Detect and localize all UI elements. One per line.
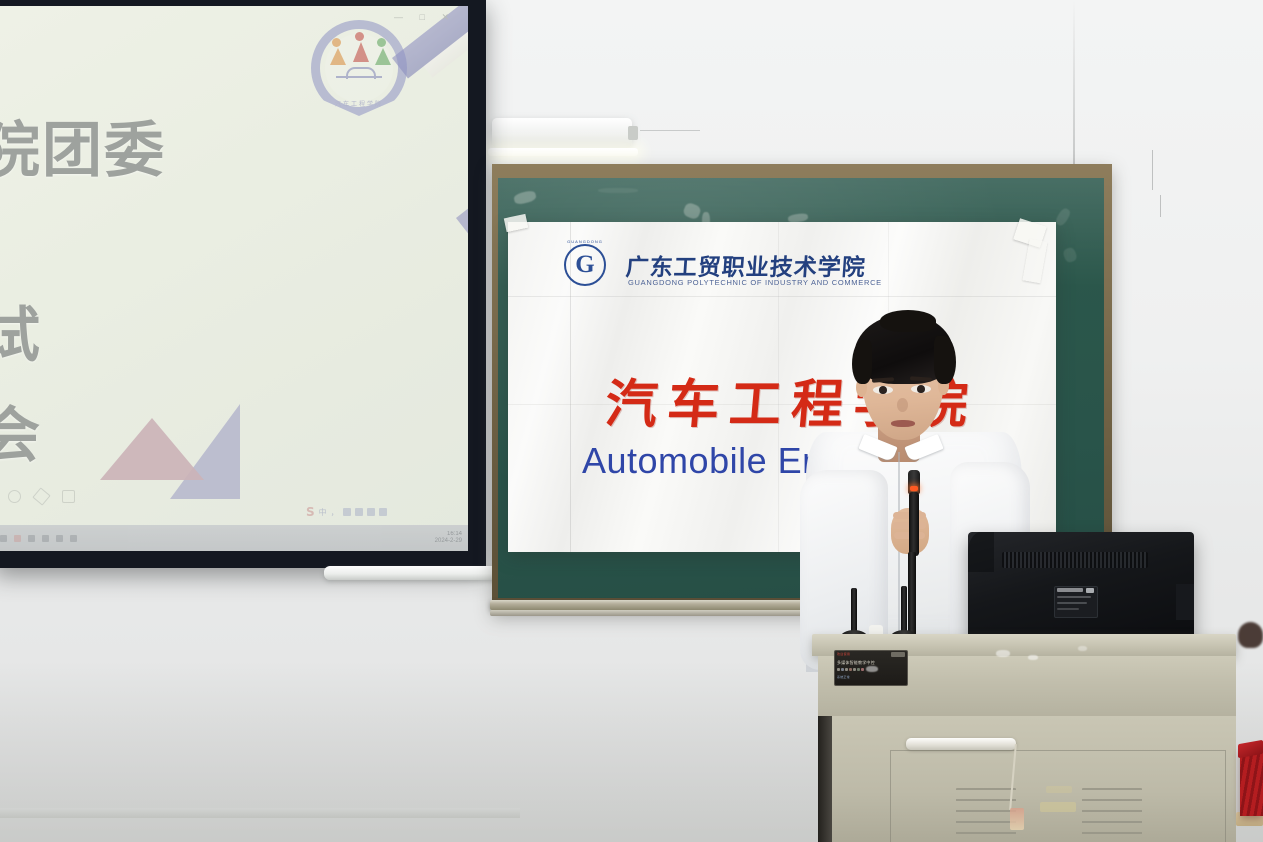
windows-taskbar[interactable]: 16:14 2024-2-29 — [0, 525, 468, 551]
monitor-label-line — [1057, 596, 1091, 598]
monitor-badge — [1086, 588, 1094, 593]
window-controls[interactable]: — □ ✕ — [394, 12, 456, 23]
monitor-label-line — [1057, 602, 1087, 604]
panel-button-visualizer[interactable] — [845, 668, 848, 671]
monitor-label — [1057, 588, 1083, 592]
panel-display — [891, 652, 905, 657]
podium-vent-left — [956, 788, 1016, 838]
person-mouth — [891, 420, 915, 427]
dark-object — [1238, 622, 1263, 648]
clock-time: 16:14 — [435, 531, 462, 538]
chalk-mark — [598, 188, 638, 193]
wall-baseboard — [0, 808, 520, 818]
ime-toolbox-icon[interactable] — [367, 508, 375, 516]
emblem-car-icon — [336, 67, 382, 85]
school-name-cn: 广东工贸职业技术学院 — [625, 248, 867, 282]
pen-tool-icon[interactable] — [32, 487, 50, 505]
panel-button-dvd[interactable] — [849, 668, 852, 671]
panel-button-projector[interactable] — [853, 668, 856, 671]
projection-screen-surface: 汽车工程学院 — □ ✕ 院团委 Ⅰ 试 会 S 中 ， — [0, 6, 468, 551]
clock-date: 2024-2-29 — [435, 538, 462, 545]
ime-mode-label[interactable]: 中 — [319, 507, 327, 518]
sogou-ime-bar[interactable]: S 中 ， — [306, 505, 387, 519]
podium-scuff — [1028, 655, 1038, 660]
school-logo-letter: G — [575, 251, 594, 279]
classroom-scene-photo: 汽车工程学院 — □ ✕ 院团委 Ⅰ 试 会 S 中 ， — [0, 0, 1263, 842]
emblem-figure-red — [353, 32, 366, 62]
podium-tape-mark — [1040, 802, 1076, 812]
slide-line-4: 会 — [0, 406, 42, 466]
podium-cabinet-door[interactable] — [890, 750, 1226, 842]
menu-tool-icon[interactable] — [62, 490, 75, 503]
taskbar-sogou-icon[interactable] — [14, 535, 21, 542]
ime-punct-icon[interactable]: ， — [331, 507, 339, 518]
taskbar-app-icon[interactable] — [28, 535, 35, 542]
wall-crack — [1152, 150, 1153, 190]
podium-handle-rail[interactable] — [906, 738, 1016, 750]
podium-scuff — [1078, 646, 1087, 651]
gooseneck-microphone-2[interactable] — [901, 586, 907, 636]
lamp-end-cap — [628, 126, 638, 140]
monitor-port-bay — [1176, 584, 1194, 620]
school-name-en: GUANGDONG POLYTECHNIC OF INDUSTRY AND CO… — [628, 278, 882, 287]
emblem-figure-orange — [330, 38, 343, 65]
ime-menu-icon[interactable] — [379, 508, 387, 516]
podium-side-edge — [818, 716, 832, 842]
person-eye-right — [917, 385, 925, 393]
fluorescent-lamp-tube — [488, 148, 638, 156]
hair-sideburn-left — [852, 340, 872, 384]
handheld-microphone-body[interactable] — [909, 492, 919, 556]
podium-vent-right — [1082, 788, 1142, 838]
presenter-toolbar[interactable] — [8, 490, 75, 503]
panel-status-label: 系统正常 — [837, 675, 850, 679]
fluorescent-lamp-housing — [492, 118, 632, 148]
monitor-label-line — [1057, 608, 1079, 610]
lcd-monitor — [968, 532, 1194, 640]
slide-line-2: Ⅰ — [0, 218, 4, 278]
cable-bundle — [1010, 808, 1024, 830]
lamp-wire — [640, 130, 700, 131]
taskbar-icon-group[interactable] — [0, 535, 77, 542]
ime-pen-icon[interactable] — [343, 508, 351, 516]
monitor-corner — [968, 532, 994, 572]
red-object — [1240, 748, 1263, 816]
panel-button-computer[interactable] — [837, 668, 840, 671]
panel-button-video[interactable] — [841, 668, 844, 671]
slide-line-1: 院团委 — [0, 121, 166, 181]
projection-screen-roller[interactable] — [324, 566, 520, 580]
slide-emblem: 汽车工程学院 — [311, 20, 407, 116]
banner-crease — [508, 296, 1056, 297]
emblem-figure-green — [375, 38, 388, 65]
person-nose — [897, 398, 908, 412]
hair-sideburn-right — [934, 336, 956, 384]
panel-title-label: 欢迎使用 — [837, 652, 850, 656]
podium-tape-mark — [1046, 786, 1072, 793]
podium-scuff — [996, 650, 1010, 657]
panel-button-power[interactable] — [861, 668, 864, 671]
monitor-vent — [1002, 552, 1148, 568]
taskbar-clock[interactable]: 16:14 2024-2-29 — [435, 531, 462, 545]
network-icon[interactable] — [56, 535, 63, 542]
gooseneck-microphone-1[interactable] — [851, 588, 857, 636]
podium-scuff — [866, 666, 878, 672]
wall-crack — [1160, 195, 1161, 217]
pointer-tool-icon[interactable] — [8, 490, 21, 503]
panel-button-row-1[interactable] — [837, 668, 864, 671]
hair-tuft — [880, 310, 936, 332]
person-eye-left — [879, 386, 887, 394]
ime-keyboard-icon[interactable] — [355, 508, 363, 516]
sogou-logo-icon: S — [306, 505, 315, 519]
volume-icon[interactable] — [42, 535, 49, 542]
panel-button-screen[interactable] — [857, 668, 860, 671]
school-logo-arc-text: GUANGDONG — [564, 239, 606, 244]
slide-triangle-pink — [100, 418, 204, 480]
slide-line-3: 试 — [0, 306, 42, 366]
slide-band-block — [456, 6, 468, 360]
microphone-led-indicator — [910, 486, 918, 491]
emblem-arc-text: 汽车工程学院 — [311, 99, 407, 108]
start-icon[interactable] — [0, 535, 7, 542]
school-logo-icon: G GUANGDONG — [564, 244, 606, 286]
battery-icon[interactable] — [70, 535, 77, 542]
wall-seam — [1073, 0, 1075, 190]
handheld-microphone-stem — [908, 552, 916, 636]
